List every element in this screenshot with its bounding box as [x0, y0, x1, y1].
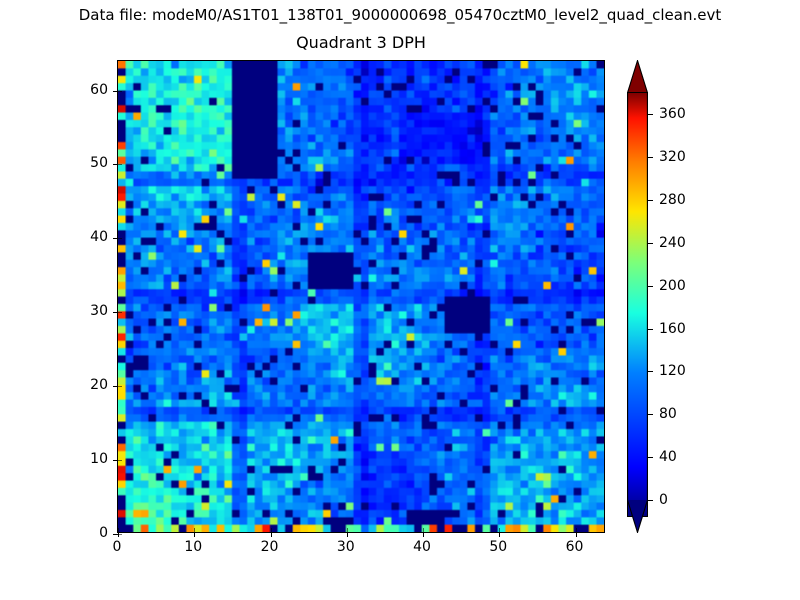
colorbar-tick	[648, 157, 653, 158]
colorbar-gradient	[627, 92, 648, 517]
colorbar-tick	[648, 500, 653, 501]
y-tick-inner	[118, 534, 122, 535]
y-ticklabel: 50	[68, 155, 108, 171]
y-tick-inner	[118, 312, 122, 313]
x-tick	[423, 532, 424, 537]
y-ticklabel: 30	[68, 303, 108, 319]
x-tick-inner	[194, 528, 195, 532]
heatmap-axes	[117, 60, 605, 533]
colorbar-tick	[648, 286, 653, 287]
colorbar-tick	[648, 114, 653, 115]
heatmap-image	[118, 61, 604, 532]
colorbar-tick	[648, 371, 653, 372]
colorbar-tick	[648, 414, 653, 415]
colorbar-tick	[648, 457, 653, 458]
colorbar-ticklabel: 80	[659, 406, 677, 422]
colorbar-ticklabel: 280	[659, 192, 686, 208]
colorbar-ticklabel: 160	[659, 321, 686, 337]
colorbar-tick	[648, 329, 653, 330]
y-tick-inner	[118, 460, 122, 461]
x-ticklabel: 10	[184, 539, 202, 555]
x-tick	[347, 532, 348, 537]
x-tick-inner	[423, 528, 424, 532]
x-ticklabel: 50	[489, 539, 507, 555]
colorbar-ticklabel: 0	[659, 492, 668, 508]
colorbar-ticklabel: 200	[659, 278, 686, 294]
colorbar-ticklabel: 40	[659, 449, 677, 465]
y-tick-inner	[118, 386, 122, 387]
x-tick-inner	[118, 528, 119, 532]
colorbar-extend-max-arrow	[627, 60, 648, 93]
colorbar-ticklabel: 360	[659, 106, 686, 122]
x-ticklabel: 40	[413, 539, 431, 555]
x-tick	[576, 532, 577, 537]
x-tick	[271, 532, 272, 537]
y-ticklabel: 40	[68, 229, 108, 245]
y-ticklabel: 0	[68, 525, 108, 541]
y-tick-inner	[118, 91, 122, 92]
x-tick-inner	[576, 528, 577, 532]
y-ticklabel: 60	[68, 82, 108, 98]
colorbar-tick	[648, 200, 653, 201]
y-ticklabel: 20	[68, 377, 108, 393]
figure-canvas: Data file: modeM0/AS1T01_138T01_90000006…	[0, 0, 800, 600]
x-tick	[194, 532, 195, 537]
colorbar	[627, 60, 648, 533]
axes-title: Quadrant 3 DPH	[117, 33, 605, 52]
figure-suptitle: Data file: modeM0/AS1T01_138T01_90000006…	[0, 6, 800, 24]
y-tick-inner	[118, 238, 122, 239]
x-tick-inner	[347, 528, 348, 532]
x-ticklabel: 0	[113, 539, 122, 555]
x-tick	[499, 532, 500, 537]
x-tick-inner	[499, 528, 500, 532]
x-ticklabel: 20	[261, 539, 279, 555]
x-tick-inner	[271, 528, 272, 532]
colorbar-ticklabel: 320	[659, 149, 686, 165]
colorbar-ticklabel: 240	[659, 235, 686, 251]
colorbar-tick	[648, 243, 653, 244]
x-ticklabel: 30	[337, 539, 355, 555]
x-ticklabel: 60	[566, 539, 584, 555]
colorbar-ticklabel: 120	[659, 363, 686, 379]
y-ticklabel: 10	[68, 451, 108, 467]
y-tick-inner	[118, 164, 122, 165]
